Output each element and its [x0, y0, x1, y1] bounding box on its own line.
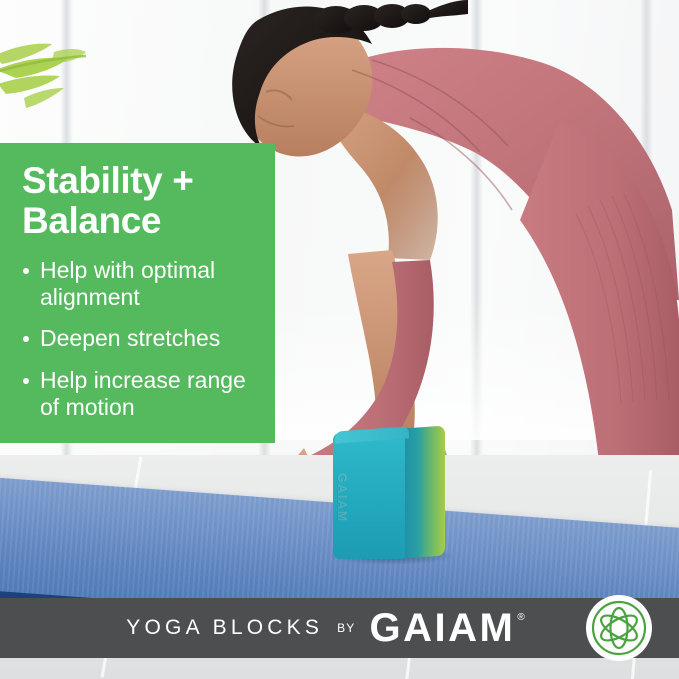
yoga-block-product: GAIAM	[333, 427, 445, 559]
bullet-item: Deepen stretches	[22, 325, 261, 352]
gaiam-wordmark: GAIAM ®	[369, 609, 524, 647]
brand-name: GAIAM	[369, 609, 515, 647]
bullet-item: Help with optimal alignment	[22, 257, 261, 310]
product-marketing-image: GAIAM Stability + Balance Help with opti…	[0, 0, 679, 679]
bullet-item: Help increase range of motion	[22, 367, 261, 420]
flower-of-life-icon	[590, 599, 648, 657]
product-label: YOGA BLOCKS	[126, 616, 323, 640]
by-connector: BY	[337, 621, 355, 635]
block-embossed-logo: GAIAM	[335, 473, 349, 523]
headline-line-1: Stability +	[22, 160, 193, 201]
benefit-bullet-list: Help with optimal alignment Deepen stret…	[22, 257, 261, 420]
green-callout-panel: Stability + Balance Help with optimal al…	[0, 143, 275, 443]
block-side-gradient	[403, 426, 445, 559]
gaiam-logo-badge	[586, 595, 652, 661]
block-front-face: GAIAM	[333, 433, 405, 559]
headline-line-2: Balance	[22, 200, 161, 241]
registered-trademark-symbol: ®	[517, 613, 524, 623]
callout-headline: Stability + Balance	[22, 161, 261, 241]
